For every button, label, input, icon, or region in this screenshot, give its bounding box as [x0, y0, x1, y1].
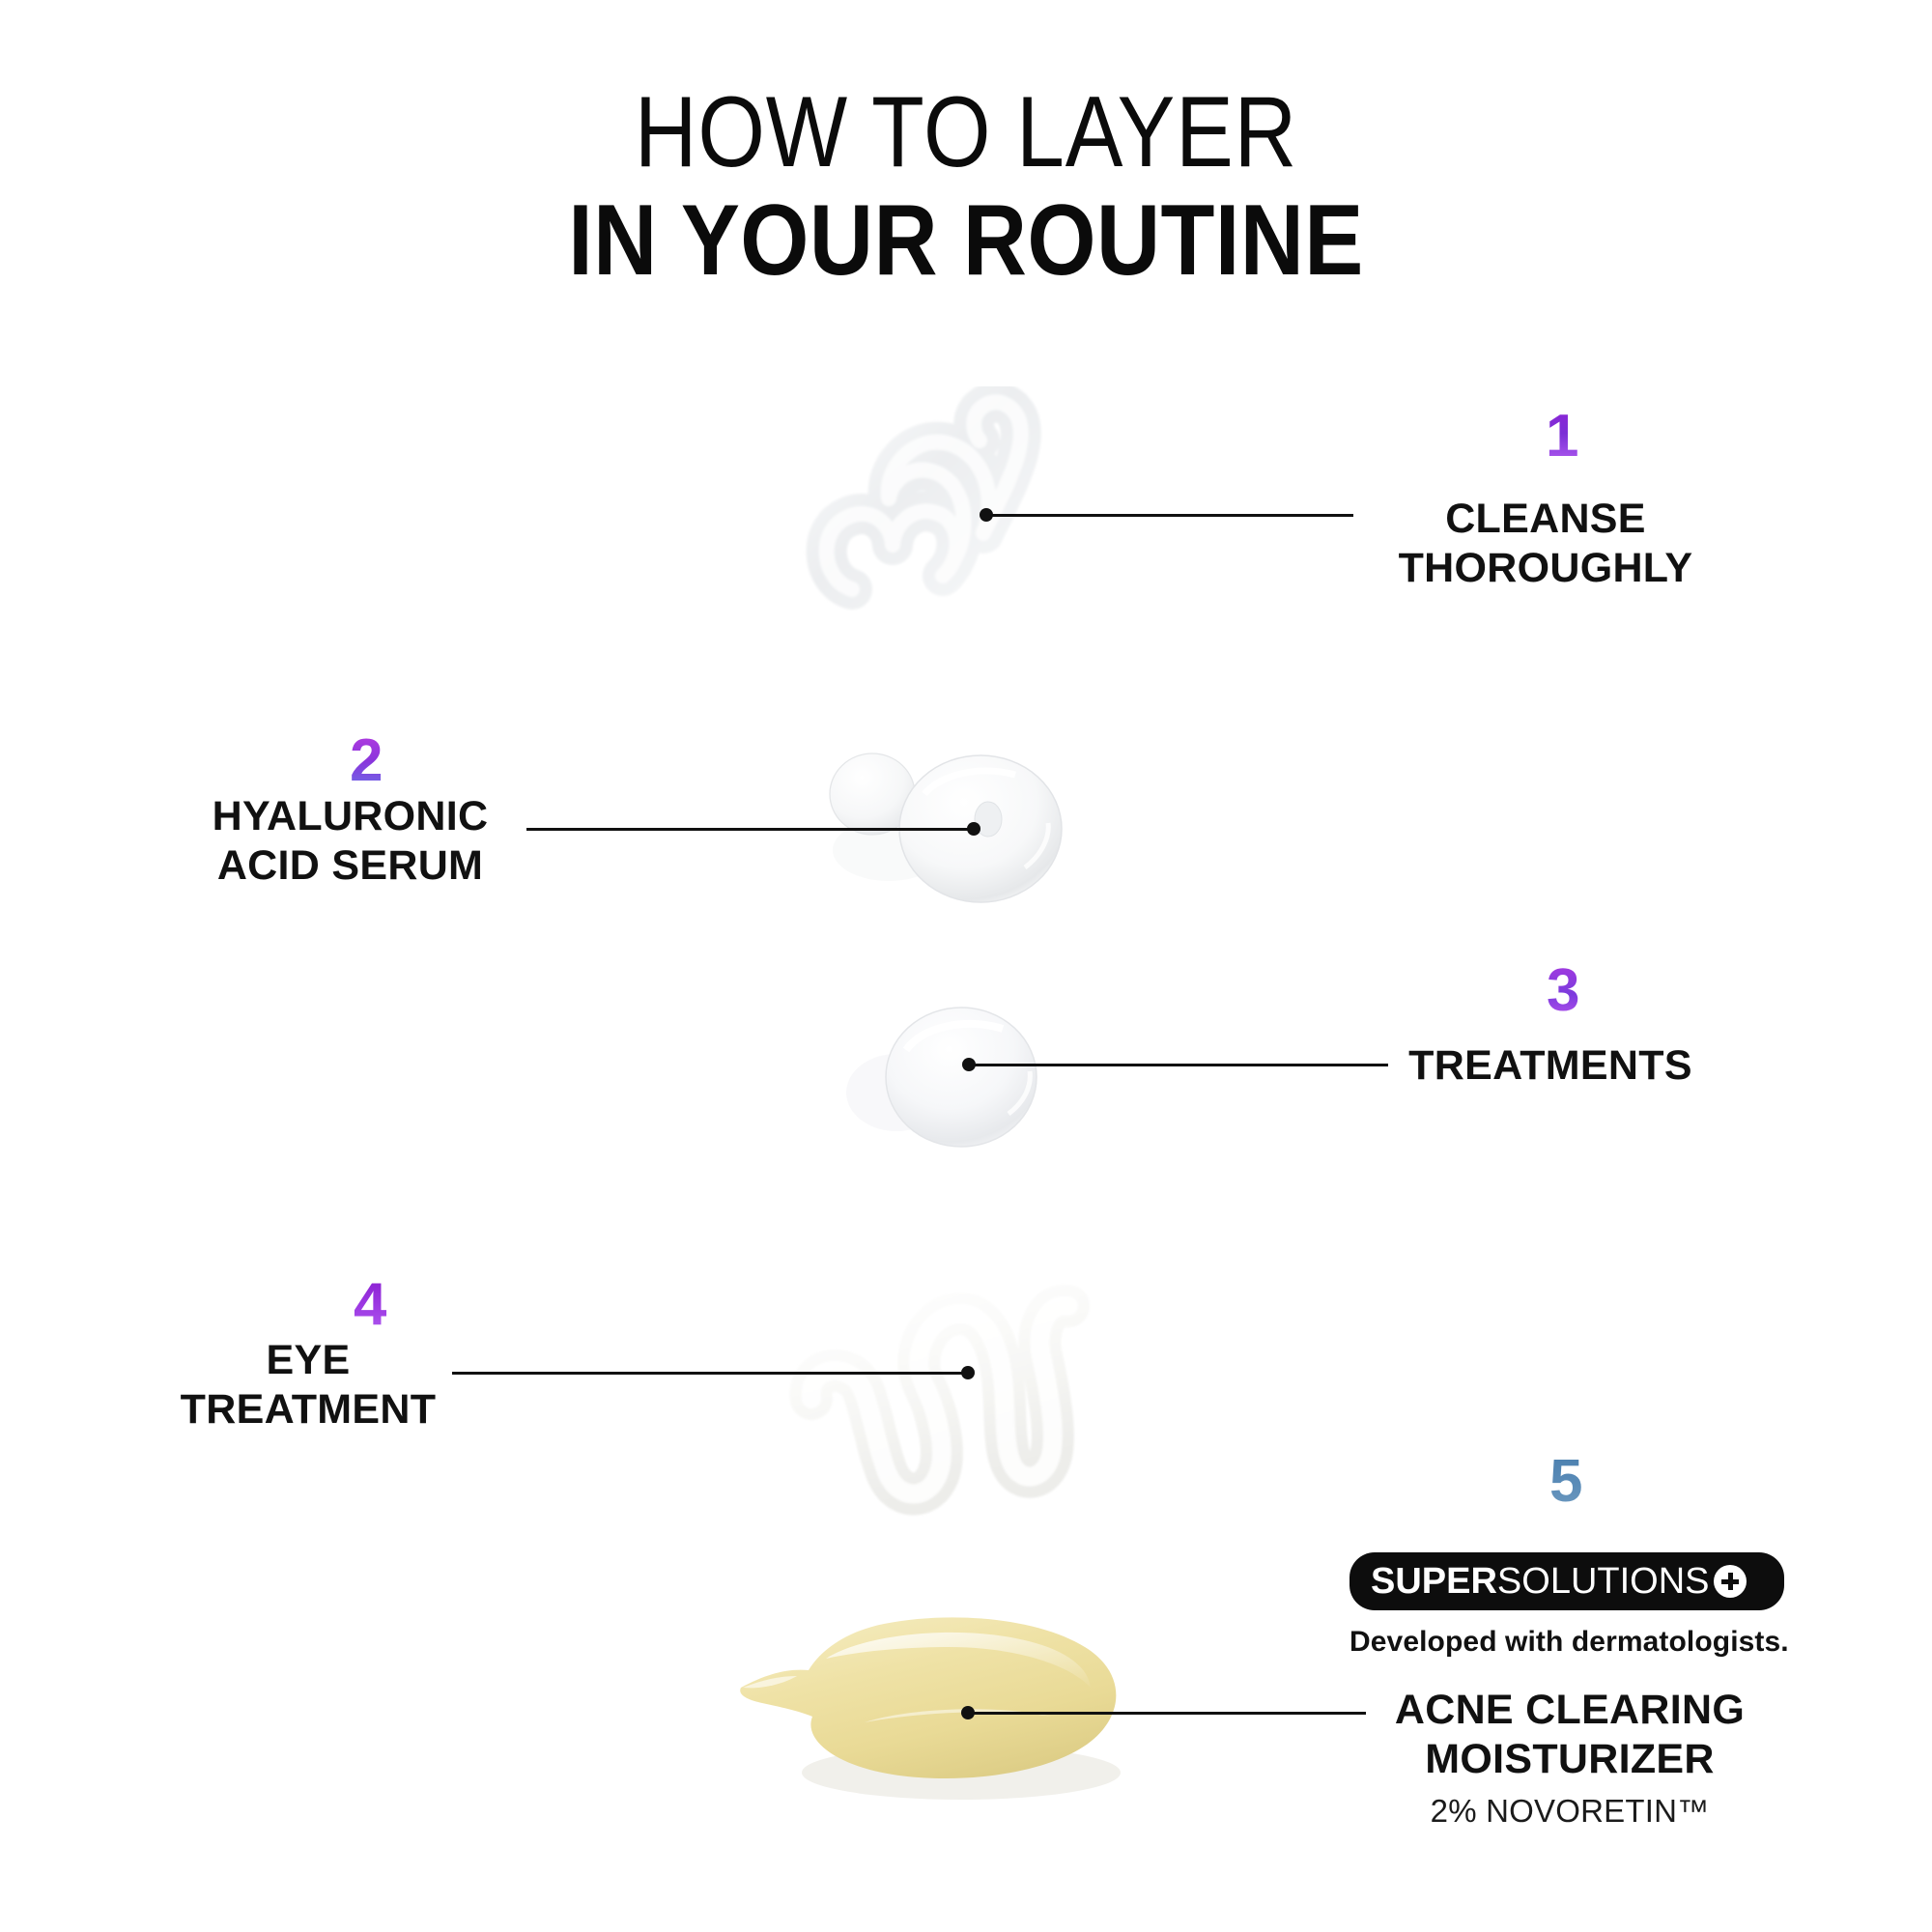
step-label-3: TREATMENTS	[1386, 1041, 1715, 1091]
badge-brand-bold: SUPER	[1371, 1561, 1497, 1603]
step-number-5: 5	[1549, 1452, 1582, 1512]
badge-brand-light: SOLUTIONS	[1497, 1561, 1710, 1603]
swatch-clear-gel-dome	[831, 1000, 1072, 1174]
infographic-page: HOW TO LAYER IN YOUR ROUTINE 1 CLEANS	[0, 0, 1932, 1932]
supersolutions-badge: SUPER SOLUTIONS	[1350, 1552, 1784, 1610]
leader-line-step-1	[986, 514, 1353, 517]
swatch-clear-gel-droplets	[816, 744, 1087, 918]
badge-tagline: Developed with dermatologists.	[1350, 1626, 1784, 1659]
step-number-2: 2	[350, 731, 383, 791]
plus-in-circle-icon	[1714, 1565, 1747, 1598]
step-sublabel-5: 2% NOVORETIN™	[1352, 1793, 1787, 1830]
step-label-5: ACNE CLEARING MOISTURIZER	[1352, 1686, 1787, 1783]
step-label-4: EYE TREATMENT	[174, 1336, 442, 1434]
step-label-1: CLEANSE THOROUGHLY	[1338, 495, 1753, 592]
step-number-3: 3	[1547, 961, 1579, 1021]
leader-line-step-3	[969, 1064, 1388, 1066]
swatch-white-cream-squiggle	[773, 1256, 1101, 1546]
step-label-2: HYALURONIC ACID SERUM	[184, 792, 517, 890]
leader-line-step-5	[968, 1712, 1366, 1715]
step-number-1: 1	[1546, 407, 1578, 467]
swatch-clear-gel-swirl	[792, 386, 1082, 628]
swatch-yellow-cream-blob	[720, 1608, 1164, 1811]
page-title-line-1: HOW TO LAYER	[135, 81, 1797, 184]
page-title-line-2: IN YOUR ROUTINE	[116, 189, 1816, 292]
leader-line-step-2	[526, 828, 974, 831]
leader-line-step-4	[452, 1372, 968, 1375]
step-number-4: 4	[354, 1275, 386, 1335]
page-title: HOW TO LAYER IN YOUR ROUTINE	[0, 81, 1932, 292]
